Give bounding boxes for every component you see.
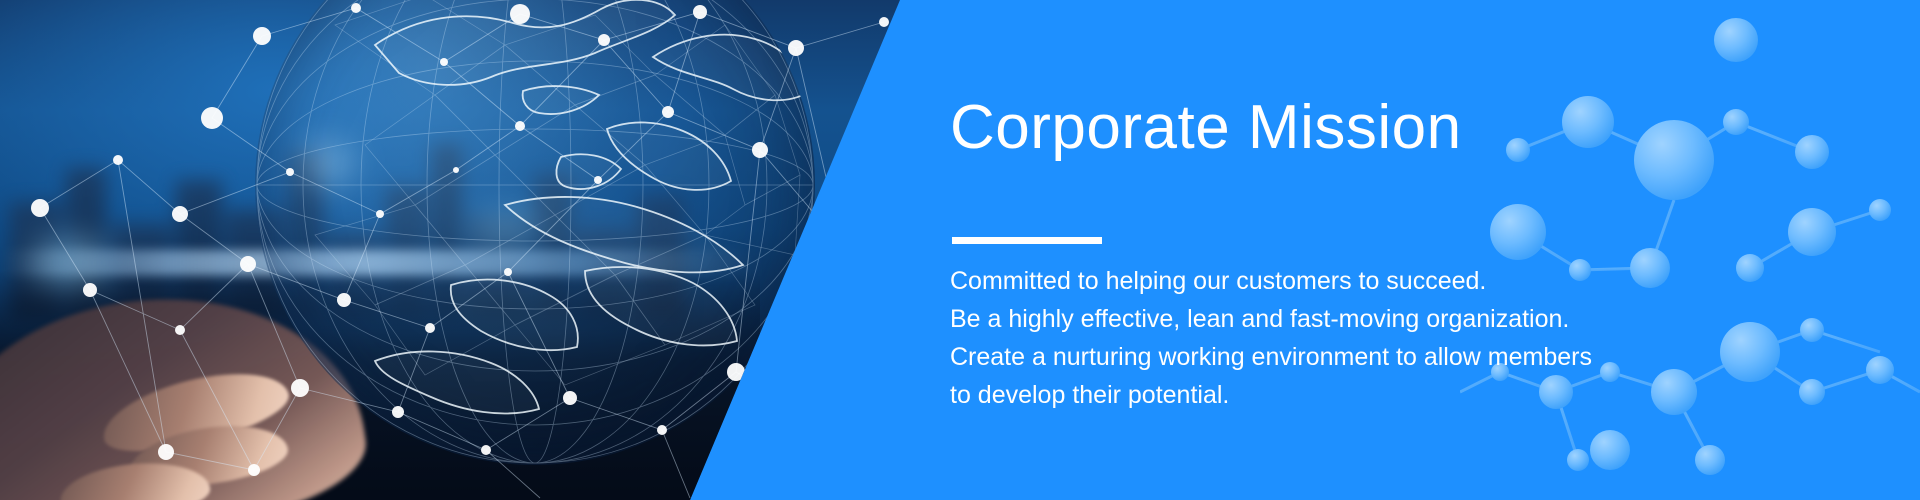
title-divider xyxy=(952,237,1102,244)
mission-line: Be a highly effective, lean and fast-mov… xyxy=(950,300,1592,338)
mission-content: Corporate Mission Committed to helping o… xyxy=(950,0,1710,500)
corporate-mission-banner: Corporate Mission Committed to helping o… xyxy=(0,0,1920,500)
mission-line: Committed to helping our customers to su… xyxy=(950,262,1592,300)
mission-line: to develop their potential. xyxy=(950,376,1592,414)
mission-statement-list: Committed to helping our customers to su… xyxy=(950,262,1592,414)
mission-line: Create a nurturing working environment t… xyxy=(950,338,1592,376)
page-title: Corporate Mission xyxy=(950,97,1462,159)
